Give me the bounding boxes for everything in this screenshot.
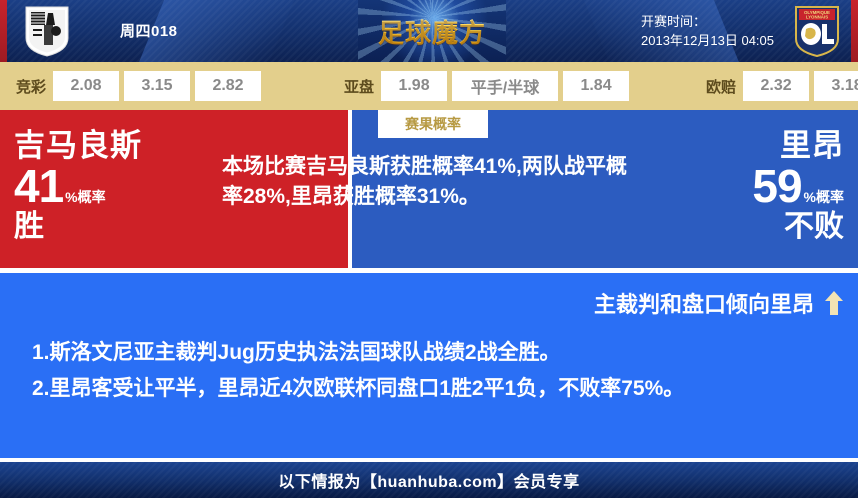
away-percent-value: 59 — [752, 160, 801, 212]
kickoff-time: 2013年12月13日 04:05 — [641, 31, 774, 50]
footer-bar: 以下情报为【huanhuba.com】会员专享 — [0, 462, 858, 498]
intel-headline-row: 主裁判和盘口倾向里昂 — [594, 287, 844, 319]
odds-cell[interactable]: 2.32 — [743, 71, 809, 101]
footer-text: 以下情报为【huanhuba.com】会员专享 — [278, 468, 579, 492]
list-item: 2.里昂客受让平半，里昂近4次欧联杯同盘口1胜2平1负，不败率75%。 — [32, 371, 832, 407]
away-probability-block: 里昂 59%概率 不败 — [752, 130, 844, 242]
odds-cell[interactable]: 2.82 — [195, 71, 261, 101]
odds-cell[interactable]: 3.18 — [814, 71, 858, 101]
arrow-up-icon — [824, 290, 844, 316]
intel-notes-panel: 主裁判和盘口倾向里昂 1.斯洛文尼亚主裁判Jug历史执法法国球队战绩2战全胜。 … — [0, 273, 858, 458]
away-result-label: 不败 — [752, 212, 844, 242]
match-round-label: 周四018 — [120, 20, 178, 41]
home-percent-value: 41 — [14, 160, 63, 212]
intel-headline: 主裁判和盘口倾向里昂 — [594, 287, 814, 319]
home-percent-row: 41%概率 — [14, 163, 142, 209]
intel-notes-list: 1.斯洛文尼亚主裁判Jug历史执法法国球队战绩2战全胜。 2.里昂客受让平半，里… — [32, 335, 832, 407]
kickoff-label: 开赛时间： — [641, 12, 774, 31]
home-percent-suffix: %概率 — [65, 189, 105, 205]
odds-bar: 竞彩 2.08 3.15 2.82 亚盘 1.98 平手/半球 1.84 欧赔 … — [0, 62, 858, 110]
home-team-name: 吉马良斯 — [14, 130, 142, 161]
list-item: 1.斯洛文尼亚主裁判Jug历史执法法国球队战绩2战全胜。 — [32, 335, 832, 371]
odds-cell[interactable]: 3.15 — [124, 71, 190, 101]
odds-group-yapan: 亚盘 1.98 平手/半球 1.84 — [344, 71, 634, 101]
header-left-red-strip — [0, 0, 7, 62]
kickoff-time-block: 开赛时间： 2013年12月13日 04:05 — [641, 12, 774, 50]
match-preview-card: 周四018 足球魔方 开赛时间： 2013年12月13日 04:05 OLYMP… — [0, 0, 858, 498]
home-probability-block: 吉马良斯 41%概率 胜 — [14, 130, 142, 242]
away-percent-row: 59%概率 — [752, 163, 844, 209]
odds-group-title: 亚盘 — [344, 76, 374, 97]
odds-group-jingcai: 竞彩 2.08 3.15 2.82 — [16, 71, 266, 101]
odds-group-title: 竞彩 — [16, 76, 46, 97]
home-result-label: 胜 — [14, 212, 142, 242]
away-percent-suffix: %概率 — [804, 189, 844, 205]
odds-group-title: 欧赔 — [706, 76, 736, 97]
odds-cell[interactable]: 2.08 — [53, 71, 119, 101]
svg-text:LYONNAIS: LYONNAIS — [806, 15, 828, 20]
probability-summary-text: 本场比赛吉马良斯获胜概率41%,两队战平概率28%,里昂获胜概率31%。 — [222, 152, 634, 212]
site-logo-text: 足球魔方 — [358, 13, 506, 50]
away-team-crest: OLYMPIQUE LYONNAIS — [794, 5, 840, 58]
home-team-crest — [24, 5, 70, 58]
site-logo[interactable]: 足球魔方 — [358, 0, 506, 62]
away-team-name: 里昂 — [752, 130, 844, 161]
odds-handicap-cell[interactable]: 平手/半球 — [452, 71, 558, 101]
tab-result-probability[interactable]: 赛果概率 — [378, 110, 488, 138]
header-right-red-strip — [851, 0, 858, 62]
odds-cell[interactable]: 1.84 — [563, 71, 629, 101]
odds-cell[interactable]: 1.98 — [381, 71, 447, 101]
header-bar: 周四018 足球魔方 开赛时间： 2013年12月13日 04:05 OLYMP… — [0, 0, 858, 62]
odds-group-oupei: 欧赔 2.32 3.18 2.95 — [706, 71, 858, 101]
